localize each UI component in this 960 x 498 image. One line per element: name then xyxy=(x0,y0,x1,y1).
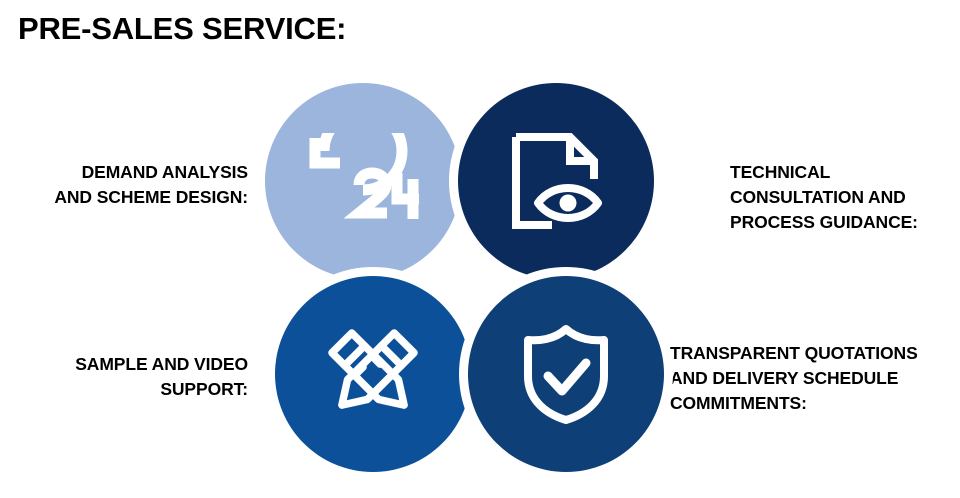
label-line: SUPPORT: xyxy=(0,377,248,402)
shield-check-icon xyxy=(468,276,664,472)
circle-node-transparent-quotations[interactable] xyxy=(468,276,664,472)
label-sample-video-support: SAMPLE AND VIDEO SUPPORT: xyxy=(0,352,248,402)
page-title: PRE-SALES SERVICE: xyxy=(18,12,346,46)
label-transparent-quotations: TRANSPARENT QUOTATIONS AND DELIVERY SCHE… xyxy=(670,341,960,416)
circle-node-demand-analysis[interactable] xyxy=(265,83,461,279)
label-line: CONSULTATION AND xyxy=(730,185,958,210)
label-demand-analysis: DEMAND ANALYSIS AND SCHEME DESIGN: xyxy=(0,160,248,210)
label-line: AND SCHEME DESIGN: xyxy=(0,185,248,210)
circle-node-technical-consultation[interactable] xyxy=(458,83,654,279)
label-line: TECHNICAL xyxy=(730,160,958,185)
label-line: COMMITMENTS: xyxy=(670,391,960,416)
label-line: SAMPLE AND VIDEO xyxy=(0,352,248,377)
label-line: DEMAND ANALYSIS xyxy=(0,160,248,185)
crossed-pencils-icon xyxy=(275,276,471,472)
circle-cluster xyxy=(265,83,667,483)
label-technical-consultation: TECHNICAL CONSULTATION AND PROCESS GUIDA… xyxy=(730,160,958,235)
label-line: TRANSPARENT QUOTATIONS xyxy=(670,341,960,366)
circle-node-sample-video-support[interactable] xyxy=(275,276,471,472)
label-line: PROCESS GUIDANCE: xyxy=(730,210,958,235)
document-eye-icon xyxy=(458,83,654,279)
24-hour-refresh-icon xyxy=(265,83,461,279)
label-line: AND DELIVERY SCHEDULE xyxy=(670,366,960,391)
